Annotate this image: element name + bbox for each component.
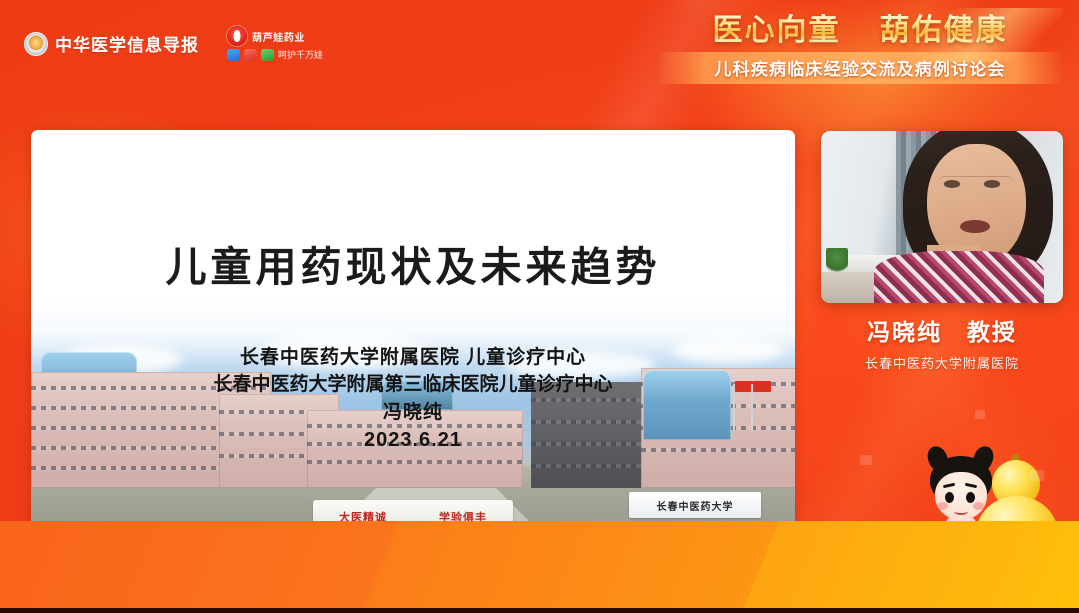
logo-cma-wordmark: 中华医学信息导报 bbox=[55, 31, 199, 56]
mascot-boot-right bbox=[962, 550, 977, 567]
event-banner: 医心向童 葫佑健康 儿科疾病临床经验交流及病例讨论会 bbox=[657, 14, 1063, 84]
speaker-video-feed[interactable] bbox=[821, 131, 1063, 303]
calabash-boy-mascot bbox=[916, 440, 1066, 580]
monument-text-right: 学验俱丰 bbox=[439, 509, 487, 525]
logo-pharma-company: 葫芦娃药业 呵护千万娃 bbox=[227, 26, 323, 61]
speaker-caption: 冯晓纯 教授 长春中医药大学附属医院 bbox=[821, 313, 1063, 372]
pharma-badge-icon bbox=[227, 26, 247, 46]
medical-seal-icon bbox=[24, 32, 48, 56]
mascot-eye-left bbox=[945, 492, 954, 503]
bottom-letterbox-bar bbox=[0, 608, 1079, 613]
gate-sign-text: 长春中医药大学 bbox=[657, 498, 734, 513]
decorative-fleck bbox=[1030, 470, 1044, 481]
speaker-name-row: 冯晓纯 教授 bbox=[821, 313, 1063, 347]
mascot-boot-left bbox=[940, 550, 955, 567]
speaker-eye-left bbox=[944, 180, 960, 187]
mascot-eyebrow-left bbox=[943, 483, 955, 488]
speaker-organization: 长春中医药大学附属医院 bbox=[821, 353, 1063, 372]
pharma-chip-blue-icon bbox=[227, 49, 240, 61]
pharma-chip-green-icon bbox=[261, 49, 274, 61]
pharma-chip-red-icon bbox=[244, 49, 257, 61]
campus-monument-stone: 大医精诚 学验俱丰 bbox=[313, 500, 513, 534]
mascot-boy-figure bbox=[922, 452, 1008, 574]
banner-title-part-1: 医心向童 bbox=[713, 13, 841, 48]
slide-subtitle-line-1: 长春中医药大学附属医院 儿童诊疗中心 bbox=[31, 345, 795, 372]
slide-subtitle-line-3: 冯晓纯 bbox=[31, 399, 795, 427]
decorative-fleck bbox=[975, 410, 985, 419]
banner-title-part-2: 葫佑健康 bbox=[879, 13, 1007, 48]
slide-title: 儿童用药现状及未来趋势 bbox=[31, 233, 795, 293]
logo-pharma-name: 葫芦娃药业 bbox=[252, 29, 305, 44]
logo-pharma-top-row: 葫芦娃药业 bbox=[227, 26, 323, 46]
decorative-fleck bbox=[900, 530, 911, 539]
speaker-mouth bbox=[960, 220, 990, 233]
speaker-title: 教授 bbox=[967, 319, 1017, 345]
mascot-cheek-left bbox=[937, 502, 948, 510]
mascot-eyebrow-right bbox=[965, 483, 977, 488]
decorative-fleck bbox=[860, 455, 872, 465]
logo-chinese-medical-herald: 中华医学信息导报 bbox=[24, 31, 199, 56]
lawn-patch bbox=[501, 530, 641, 552]
mascot-eye-right bbox=[966, 492, 975, 503]
mascot-cheek-right bbox=[973, 502, 984, 510]
broadcast-stage: 中华医学信息导报 葫芦娃药业 呵护千万娃 医心向童 葫佑健康 儿科疾病临床经验交… bbox=[0, 0, 1079, 613]
speaker-eye-right bbox=[984, 180, 1000, 187]
header-logo-row: 中华医学信息导报 葫芦娃药业 呵护千万娃 bbox=[24, 26, 323, 61]
logo-pharma-bottom-row: 呵护千万娃 bbox=[227, 48, 323, 61]
event-banner-subtitle-band: 儿科疾病临床经验交流及病例讨论会 bbox=[657, 52, 1063, 84]
speaker-name: 冯晓纯 bbox=[867, 319, 942, 345]
slide-subtitle-block: 长春中医药大学附属医院 儿童诊疗中心 长春中医药大学附属第三临床医院儿童诊疗中心… bbox=[31, 345, 795, 455]
monument-text-left: 大医精诚 bbox=[339, 509, 387, 525]
logo-pharma-tagline: 呵护千万娃 bbox=[278, 48, 323, 61]
event-banner-subtitle: 儿科疾病临床经验交流及病例讨论会 bbox=[657, 55, 1063, 80]
slide-subtitle-line-4: 2023.6.21 bbox=[31, 426, 795, 455]
speaker-clothing bbox=[874, 251, 1043, 303]
event-banner-main-title: 医心向童 葫佑健康 bbox=[657, 14, 1063, 49]
campus-gate-sign: 长春中医药大学 bbox=[629, 492, 761, 518]
mascot-face bbox=[935, 472, 987, 520]
slide-subtitle-line-2: 长春中医药大学附属第三临床医院儿童诊疗中心 bbox=[31, 372, 795, 399]
presentation-slide[interactable]: 大医精诚 学验俱丰 长春中医药大学 儿童用药现状及未来趋势 长春中医药大学附属医… bbox=[31, 130, 795, 558]
mascot-mouth bbox=[954, 508, 968, 515]
